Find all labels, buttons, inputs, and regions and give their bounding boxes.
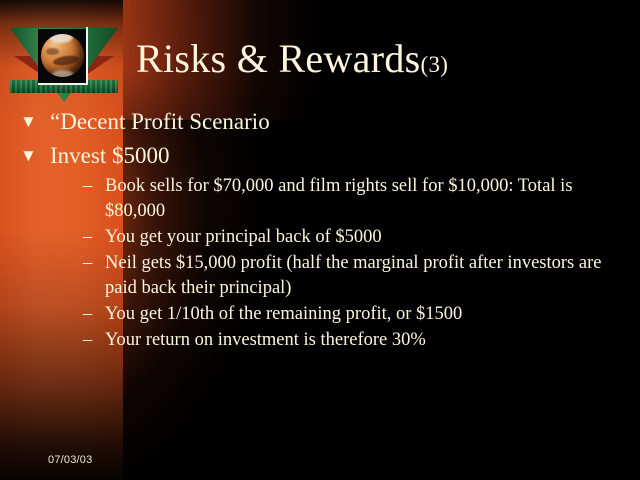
bullet-level2: – Book sells for $70,000 and film rights… [0,174,640,224]
bullet-dash-icon: – [83,302,92,327]
bullet-triangle-icon: ▼ [20,140,42,172]
bullet-level2: – Your return on investment is therefore… [0,328,640,353]
bullet-level1: ▼ “Decent Profit Scenario [0,106,640,138]
bullet-level1: ▼ Invest $5000 [0,140,640,172]
bullet-triangle-icon: ▼ [20,106,42,138]
slide-title-main: Risks & Rewards [136,36,421,81]
bullet-text: Invest $5000 [50,143,169,168]
slide-body: ▼ “Decent Profit Scenario ▼ Invest $5000… [0,106,640,353]
bullet-text: You get 1/10th of the remaining profit, … [105,304,462,324]
mars-south-cap [52,70,74,77]
bullet-text: “Decent Profit Scenario [50,109,270,134]
mars-surface-feature-1 [52,54,79,67]
mars-frame-border-bottom [38,83,88,85]
bullet-dash-icon: – [83,225,92,250]
bullet-level2: – Neil gets $15,000 profit (half the mar… [0,251,640,301]
bullet-text: You get your principal back of $5000 [105,227,382,247]
bullet-text: Book sells for $70,000 and film rights s… [105,176,573,221]
presentation-slide: Risks & Rewards(3) ▼ “Decent Profit Scen… [0,0,640,480]
mars-planet-icon [41,34,84,77]
bullet-dash-icon: – [83,174,92,199]
mars-north-cap [49,34,73,43]
slide-title-suffix: (3) [421,52,449,77]
slide-title: Risks & Rewards(3) [136,36,448,88]
slide-date: 07/03/03 [48,454,92,466]
bullet-dash-icon: – [83,251,92,276]
bullet-level2: – You get 1/10th of the remaining profit… [0,302,640,327]
mars-frame-border-right [86,27,88,85]
bullet-text: Your return on investment is therefore 3… [105,330,426,350]
mars-surface-feature-2 [46,48,59,55]
mars-society-logo [8,26,120,104]
bullet-dash-icon: – [83,328,92,353]
bullet-text: Neil gets $15,000 profit (half the margi… [105,253,601,298]
bullet-level2: – You get your principal back of $5000 [0,225,640,250]
